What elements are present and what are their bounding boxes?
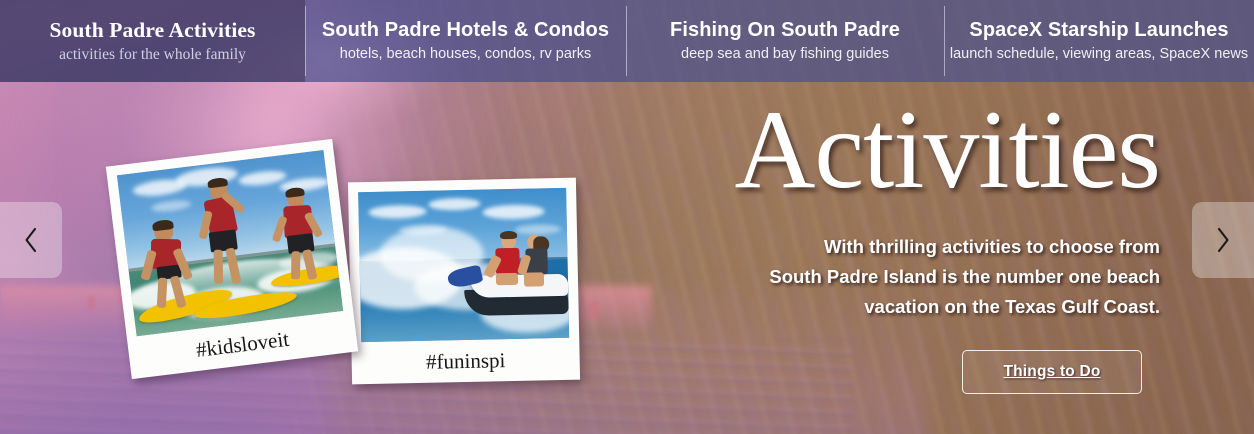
child-leg — [214, 250, 224, 284]
nav-item-title: Fishing On South Padre — [670, 18, 900, 42]
rider-leg — [524, 272, 544, 286]
cta-container: Things to Do — [640, 350, 1160, 394]
rider-hair — [500, 231, 517, 239]
nav-item-title: South Padre Hotels & Condos — [322, 18, 609, 42]
photo-card-funinspi[interactable]: #funinspi — [348, 178, 580, 385]
photo-card-kidsloveit[interactable]: #kidsloveit — [106, 139, 358, 379]
child-leg — [157, 278, 168, 308]
nav-item-subtitle: activities for the whole family — [59, 45, 246, 64]
nav-item-title: SpaceX Starship Launches — [969, 18, 1228, 42]
child-leg — [291, 251, 300, 279]
hero-subtitle-line: South Padre Island is the number one bea… — [640, 262, 1160, 292]
hero-subtitle-line: vacation on the Texas Gulf Coast. — [640, 292, 1160, 322]
hero-subtitle-line: With thrilling activities to choose from — [640, 232, 1160, 262]
nav-item-subtitle: hotels, beach houses, condos, rv parks — [340, 45, 591, 64]
nav-item-south-padre-activities[interactable]: South Padre Activities activities for th… — [0, 0, 305, 82]
chevron-right-icon — [1215, 227, 1231, 253]
hero-text-block: Activities With thrilling activities to … — [640, 92, 1160, 394]
nav-item-subtitle: deep sea and bay fishing guides — [681, 45, 889, 64]
top-navigation: South Padre Activities activities for th… — [0, 0, 1254, 82]
hero-carousel-page: South Padre Activities activities for th… — [0, 0, 1254, 434]
carousel-next-button[interactable] — [1192, 202, 1254, 278]
child-leg — [225, 247, 241, 284]
nav-item-fishing-on-south-padre[interactable]: Fishing On South Padre deep sea and bay … — [626, 0, 944, 82]
jetski-rider-female — [517, 234, 558, 291]
child-leg — [302, 249, 318, 280]
photo-caption: #funinspi — [361, 338, 570, 384]
child-surfer — [270, 186, 341, 285]
nav-item-subtitle: launch schedule, viewing areas, SpaceX n… — [950, 45, 1248, 64]
photo-image-kids-surfing — [117, 150, 343, 336]
chevron-left-icon — [23, 227, 39, 253]
hero-heading: Activities — [640, 92, 1160, 208]
nav-item-south-padre-hotels-condos[interactable]: South Padre Hotels & Condos hotels, beac… — [305, 0, 626, 82]
things-to-do-button[interactable]: Things to Do — [962, 350, 1142, 394]
photo-image-jet-ski — [358, 188, 569, 342]
nav-item-spacex-starship-launches[interactable]: SpaceX Starship Launches launch schedule… — [944, 0, 1254, 82]
rider-leg — [496, 273, 518, 285]
nav-item-title: South Padre Activities — [49, 18, 255, 42]
child-leg — [170, 275, 187, 308]
child-surfer — [190, 173, 267, 290]
hero-subtitle: With thrilling activities to choose from… — [640, 232, 1160, 322]
carousel-prev-button[interactable] — [0, 202, 62, 278]
